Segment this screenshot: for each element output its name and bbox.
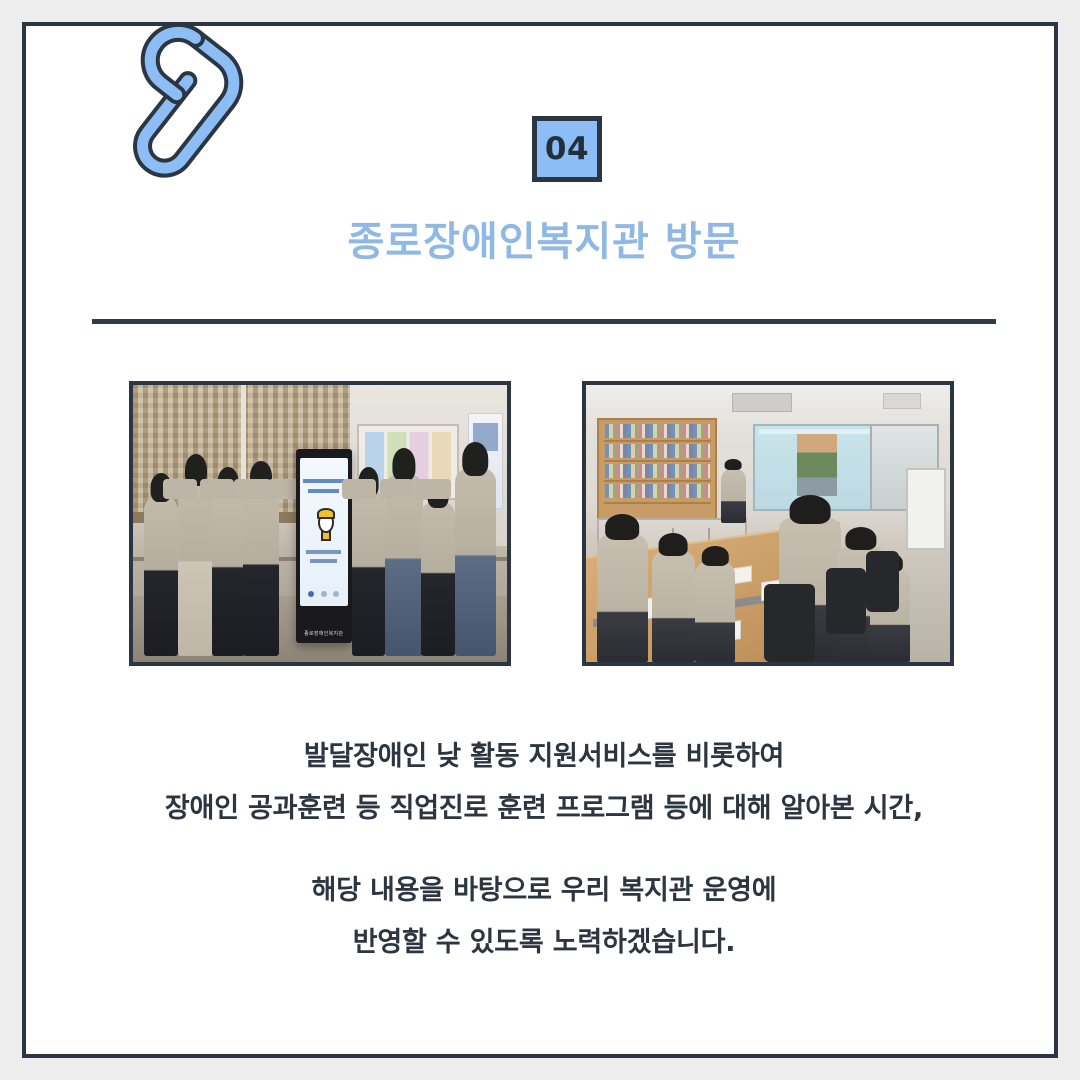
section-number-badge: 04 <box>532 116 602 182</box>
body-line-4: 반영할 수 있도록 노력하겠습니다. <box>26 917 1062 969</box>
body-line-3: 해당 내용을 바탕으로 우리 복지관 운영에 <box>26 865 1062 917</box>
card-frame: 04 종로장애인복지관 방문 <box>22 22 1058 1058</box>
body-line-1: 발달장애인 낮 활동 지원서비스를 비롯하여 <box>26 731 1062 783</box>
title-divider <box>92 319 996 324</box>
body-line-2: 장애인 공과훈련 등 직업진로 훈련 프로그램 등에 대해 알아본 시간, <box>26 783 1062 835</box>
page-title: 종로장애인복지관 방문 <box>26 218 1062 266</box>
section-number: 04 <box>545 134 589 165</box>
kiosk-display: 종로장애인복지관 <box>296 449 352 643</box>
photo-gallery: 종로장애인복지관 <box>26 381 1062 666</box>
body-paragraph: 발달장애인 낮 활동 지원서비스를 비롯하여 장애인 공과훈련 등 직업진로 훈… <box>26 731 1062 969</box>
paperclip-icon <box>84 18 274 208</box>
photo-meeting-room <box>582 381 954 666</box>
photo-lobby-kiosk: 종로장애인복지관 <box>129 381 511 666</box>
body-line-spacer <box>26 835 1062 865</box>
kiosk-logo-text: 종로장애인복지관 <box>296 630 352 637</box>
